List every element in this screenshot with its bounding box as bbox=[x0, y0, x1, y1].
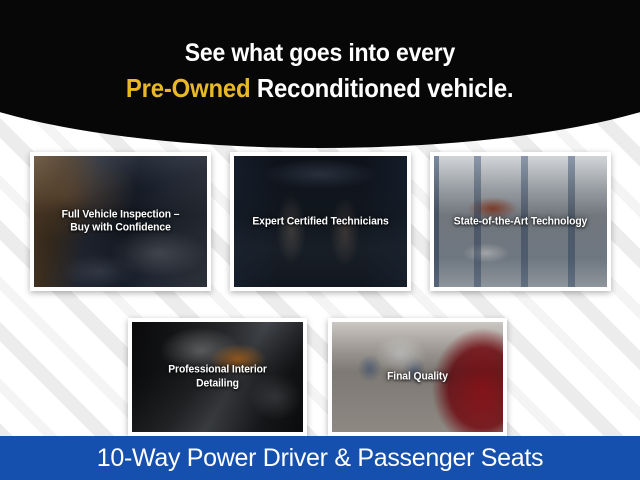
card-caption-line-1: Professional Interior bbox=[142, 364, 293, 378]
feature-card-professional-interior-detailing[interactable]: Professional Interior Detailing bbox=[128, 318, 307, 436]
feature-card-state-of-the-art-technology[interactable]: State-of-the-Art Technology bbox=[430, 152, 611, 291]
card-caption: Full Vehicle Inspection – Buy with Confi… bbox=[34, 208, 207, 235]
card-caption-line-1: State-of-the-Art Technology bbox=[444, 215, 597, 229]
card-caption-line-1: Full Vehicle Inspection – bbox=[44, 208, 197, 222]
feature-card-final-quality[interactable]: Final Quality bbox=[328, 318, 507, 436]
feature-card-full-vehicle-inspection[interactable]: Full Vehicle Inspection – Buy with Confi… bbox=[30, 152, 211, 291]
slide-canvas: See what goes into every Pre-Owned Recon… bbox=[0, 0, 640, 480]
card-caption: Professional Interior Detailing bbox=[132, 364, 303, 391]
headline-highlight: Pre-Owned bbox=[126, 73, 251, 103]
card-caption-line-2: Detailing bbox=[142, 377, 293, 391]
bottom-feature-banner: 10-Way Power Driver & Passenger Seats bbox=[0, 436, 640, 480]
card-caption: State-of-the-Art Technology bbox=[434, 215, 607, 229]
feature-card-expert-certified-technicians[interactable]: Expert Certified Technicians bbox=[230, 152, 411, 291]
card-caption: Expert Certified Technicians bbox=[234, 215, 407, 229]
headline-line-2: Pre-Owned Reconditioned vehicle. bbox=[126, 73, 514, 103]
card-caption-line-2: Buy with Confidence bbox=[44, 222, 197, 236]
header-banner: See what goes into every Pre-Owned Recon… bbox=[0, 0, 640, 148]
headline-line-1: See what goes into every bbox=[185, 38, 455, 68]
card-caption-line-1: Final Quality bbox=[342, 370, 493, 384]
card-caption: Final Quality bbox=[332, 370, 503, 384]
card-caption-line-1: Expert Certified Technicians bbox=[244, 215, 397, 229]
bottom-banner-text: 10-Way Power Driver & Passenger Seats bbox=[97, 445, 543, 472]
header-text-block: See what goes into every Pre-Owned Recon… bbox=[0, 0, 640, 148]
headline-line-2-rest: Reconditioned vehicle. bbox=[251, 73, 514, 103]
